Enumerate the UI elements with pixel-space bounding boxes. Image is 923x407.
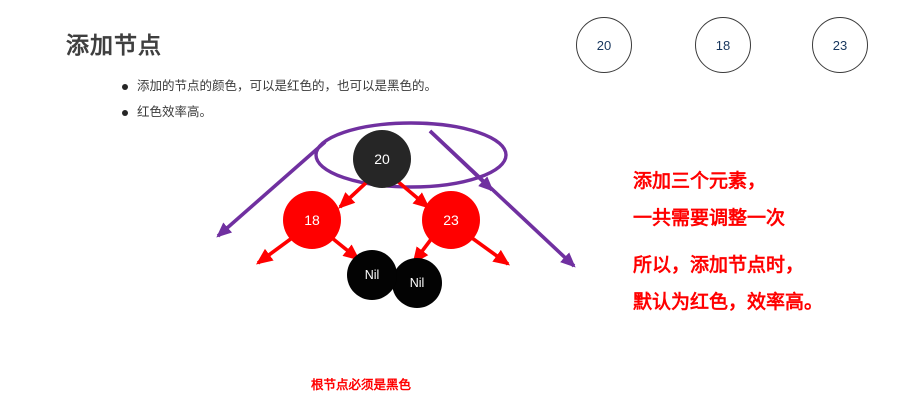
list-item: 添加的节点的颜色，可以是红色的，也可以是黑色的。 (122, 78, 552, 95)
page-title: 添加节点 (66, 26, 162, 60)
red-note-block: 添加三个元素， 一共需要调整一次 所以，添加节点时， 默认为红色，效率高。 (633, 163, 823, 321)
edge-23-right-dangling (472, 238, 508, 264)
note-spacer (633, 237, 823, 247)
queue-circle-23: 23 (812, 17, 868, 73)
note-line-3: 所以，添加节点时， (633, 247, 823, 284)
edge-root-to-23 (396, 180, 428, 207)
bullet-dot-icon (122, 110, 128, 116)
note-line-4: 默认为红色，效率高。 (633, 284, 823, 321)
tree-node-nil-right: Nil (392, 258, 442, 308)
bottom-caption: 根节点必须是黑色 (311, 374, 411, 393)
tree-node-18: 18 (283, 191, 341, 249)
note-line-2: 一共需要调整一次 (633, 200, 823, 237)
root-highlight-ellipse (316, 123, 506, 187)
purple-arrow-right-mid (430, 131, 492, 190)
edge-root-to-18 (340, 180, 369, 207)
bullet-text: 红色效率高。 (137, 104, 212, 121)
queue-circle-18: 18 (695, 17, 751, 73)
slide-canvas: 添加节点 添加的节点的颜色，可以是红色的，也可以是黑色的。 红色效率高。 20 … (0, 0, 923, 407)
tree-node-root-20: 20 (353, 130, 411, 188)
list-item: 红色效率高。 (122, 104, 552, 121)
bullet-list: 添加的节点的颜色，可以是红色的，也可以是黑色的。 红色效率高。 (122, 78, 552, 130)
bullet-text: 添加的节点的颜色，可以是红色的，也可以是黑色的。 (137, 78, 437, 95)
tree-node-23: 23 (422, 191, 480, 249)
queue-circle-20: 20 (576, 17, 632, 73)
edge-18-left-dangling (258, 238, 292, 263)
tree-node-nil-left: Nil (347, 250, 397, 300)
note-line-1: 添加三个元素， (633, 163, 823, 200)
bullet-dot-icon (122, 84, 128, 90)
